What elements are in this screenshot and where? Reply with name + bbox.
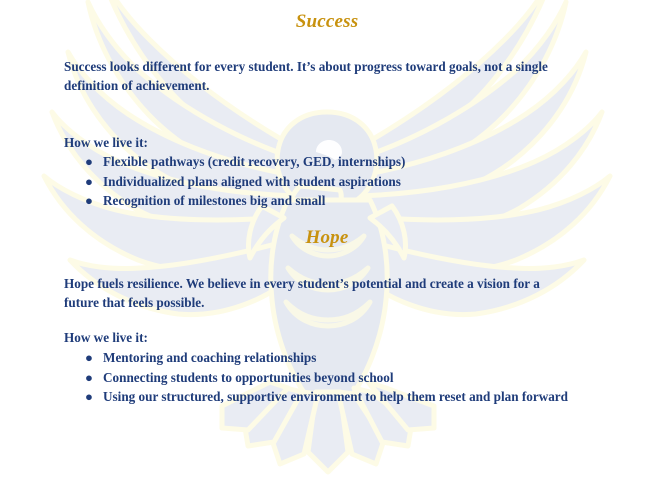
bullet-dot-icon: ● [85,152,93,172]
how-we-live-it-label-success: How we live it: [64,133,148,152]
list-item-label: Flexible pathways (credit recovery, GED,… [103,154,405,169]
bullet-list-success: ● Flexible pathways (credit recovery, GE… [64,152,579,211]
how-we-live-it-label-hope: How we live it: [64,328,148,347]
bullet-dot-icon: ● [85,172,93,192]
list-item: ● Recognition of milestones big and smal… [64,191,579,211]
list-item-label: Recognition of milestones big and small [103,193,325,208]
bullet-dot-icon: ● [85,191,93,211]
list-item-label: Using our structured, supportive environ… [103,389,568,404]
document-page: .fth { fill: #e9ecf3; stroke: #fdfbe6; s… [0,0,654,483]
section-heading-hope: Hope [0,228,654,249]
bullet-list-hope: ● Mentoring and coaching relationships ●… [64,348,579,407]
bullet-dot-icon: ● [85,368,93,388]
list-item: ● Individualized plans aligned with stud… [64,172,579,192]
list-item: ● Connecting students to opportunities b… [64,368,579,388]
bullet-dot-icon: ● [85,348,93,368]
list-item: ● Using our structured, supportive envir… [64,387,579,407]
document-content: Success Success looks different for ever… [0,0,654,483]
bullet-dot-icon: ● [85,387,93,407]
list-item-label: Connecting students to opportunities bey… [103,370,394,385]
section-paragraph-hope: Hope fuels resilience. We believe in eve… [64,274,574,312]
list-item-label: Mentoring and coaching relationships [103,350,316,365]
section-success-heading-wrap: Success [0,12,654,33]
section-heading-success: Success [0,12,654,33]
section-hope-heading-wrap: Hope [0,228,654,249]
list-item: ● Mentoring and coaching relationships [64,348,579,368]
list-item: ● Flexible pathways (credit recovery, GE… [64,152,579,172]
section-paragraph-success: Success looks different for every studen… [64,57,574,95]
list-item-label: Individualized plans aligned with studen… [103,174,401,189]
